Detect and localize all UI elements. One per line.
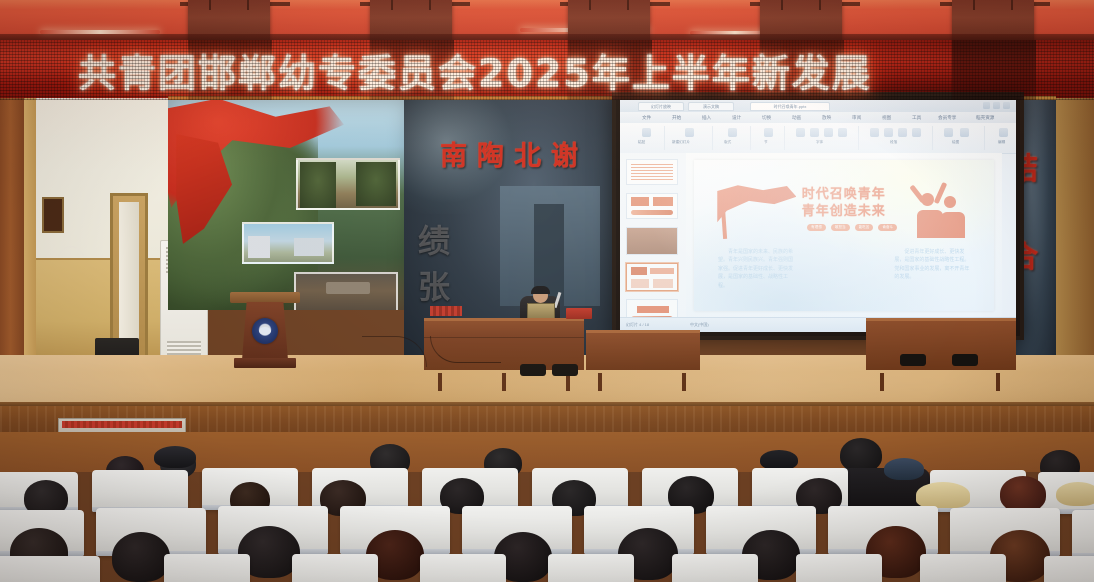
arrange-icon[interactable] [960,128,969,137]
ppt-menu-8[interactable]: 视图 [882,114,891,121]
ppt-ribbon-group-2: 版式 [716,126,751,150]
silhouette-body-2 [941,212,965,237]
ppt-ribbon-label-2: 版式 [724,140,731,145]
ppt-slide-counter: 幻灯片 4 / 18 [626,322,649,328]
ppt-tab-1[interactable]: 演示文稿 [688,102,734,111]
red-folder-stack [430,306,462,316]
slide-column-left: 青年是国家的未来、民族的希望。青年兴则民族兴。青年强则国家强。促进青年更好成长、… [718,248,794,302]
presidium-table-leg-2 [502,373,506,391]
shapes-icon[interactable] [944,128,953,137]
slide-pill-1: 敢担当 [831,224,850,231]
slide-pill-0: 有理想 [807,224,826,231]
backdrop-calligraphy-title: 南陶北谢 [440,134,588,173]
audience-head-cap [1056,482,1094,506]
slide-title-line2: 青年创造未来 [802,204,886,219]
far-chair-1 [900,354,926,366]
ppt-menu-3[interactable]: 设计 [732,114,741,121]
align-left-icon[interactable] [898,128,907,137]
align-center-icon[interactable] [912,128,921,137]
slide-pill-3: 肯奋斗 [878,224,897,231]
side-table [586,330,700,370]
far-table [866,318,1016,370]
slide-body-columns: 青年是国家的未来、民族的希望。青年兴则民族兴。青年强则国家强。促进青年更好成长、… [718,248,970,302]
speaker-podium [238,292,292,370]
side-door[interactable] [110,193,148,358]
audience-seat[interactable] [292,554,378,582]
backdrop-campus-panel [168,100,408,310]
audience-seat[interactable] [548,554,634,582]
slide-thumbnail-4[interactable] [626,263,678,291]
audience-head-cap [154,446,196,468]
slide-thumbnail-5[interactable] [626,299,678,318]
ppt-ribbon-group-0: 粘贴 [630,126,665,150]
ppt-ribbon-group-3: 节 [754,126,785,150]
silhouette-head-1 [921,193,934,206]
ppt-ribbon-label-4: 字体 [816,140,823,145]
ppt-ribbon-label-3: 节 [764,140,768,145]
ppt-menu-7[interactable]: 审阅 [852,114,861,121]
ppt-ribbon-label-1: 新建幻灯片 [672,140,690,145]
ppt-menu-0[interactable]: 文件 [642,114,651,121]
section-icon[interactable] [764,128,773,137]
wall-cable [48,246,94,358]
auditorium-photo: 共青团邯郸幼专委员会2025年上半年新发展 南陶北谢 绩张 [0,0,1094,582]
ppt-menu-10[interactable]: 会员专享 [938,114,956,121]
current-slide: 时代召唤青年 青年创造未来 有理想 敢担当 能吃苦 肯奋斗 [694,160,994,311]
audience-seat[interactable] [0,556,100,582]
audience-seat[interactable] [920,554,1006,582]
ppt-minimize-icon[interactable] [983,102,990,109]
presenter-cap [531,286,550,294]
presenter-chair-2 [552,364,578,376]
audience-area: FIGHTER [0,432,1094,582]
silhouette-body-1 [917,210,943,237]
slide-thumbnail-1[interactable] [626,159,678,185]
presidium-table-leg-1 [438,373,442,391]
bullet-list-icon[interactable] [870,128,879,137]
new-slide-icon[interactable] [685,128,694,137]
projection-screen-frame: 幻灯片放映 演示文稿 时代召唤青年.pptx 文件 开始 插入 设计 切换 动画… [612,92,1024,340]
side-table-leg-2 [682,373,686,391]
side-table-leg-1 [598,373,602,391]
backdrop-photo-3 [294,272,398,310]
left-wood-column [0,98,26,398]
wall-service-hatch [42,197,64,233]
audience-head [1000,476,1046,512]
presenter-chair [520,364,546,376]
left-wood-column-trim [24,98,36,398]
paste-icon[interactable] [642,128,651,137]
presenter-laptop [527,303,555,319]
ppt-menu-2[interactable]: 插入 [702,114,711,121]
far-table-leg-2 [996,373,1000,391]
ppt-ribbon-group-1: 新建幻灯片 [668,126,713,150]
audience-head-straw-hat [916,482,970,508]
audience-seat[interactable] [92,470,188,512]
ppt-thumbnail-panel[interactable]: 1 2 3 4 [620,153,687,318]
font-size-icon[interactable] [810,128,819,137]
red-document-box [566,308,592,319]
slide-title: 时代召唤青年 青年创造未来 [802,186,886,220]
ppt-ribbon-label-0: 粘贴 [638,140,645,145]
ppt-menu-6[interactable]: 放映 [822,114,831,121]
ppt-ribbon-label-7: 编辑 [998,140,1005,145]
podium-top [230,292,300,303]
ppt-slide-canvas[interactable]: 时代召唤青年 青年创造未来 有理想 敢担当 能吃苦 肯奋斗 [686,153,1002,318]
projection-screen: 幻灯片放映 演示文稿 时代召唤青年.pptx 文件 开始 插入 设计 切换 动画… [620,100,1016,332]
ppt-menu-1[interactable]: 开始 [672,114,681,121]
audience-head [840,438,882,472]
slide-thumbnail-2[interactable] [626,193,678,219]
italic-icon[interactable] [838,128,847,137]
audience-head [112,532,170,582]
side-door-panel [119,202,139,355]
ppt-close-icon[interactable] [1003,102,1010,109]
layout-icon[interactable] [728,128,737,137]
ceiling-edge [0,0,1094,10]
slide-red-flag [717,184,796,225]
podium-school-crest [252,318,278,344]
ppt-ribbon-label-6: 绘图 [952,140,959,145]
slide-title-line1: 时代召唤青年 [802,187,886,202]
audience-seat[interactable] [1072,510,1094,558]
ppt-language-indicator[interactable]: 中文(中国) [690,322,709,328]
ppt-maximize-icon[interactable] [993,102,1000,109]
podium-base [234,358,296,368]
ppt-tab-2[interactable]: 时代召唤青年.pptx [750,102,830,111]
slide-pill-2: 能吃苦 [855,224,874,231]
ppt-tab-0[interactable]: 幻灯片放映 [638,102,684,111]
slide-column-right: 促进青年更好成长、更快发展，是国家的基础性战略性工程。党和国家事业的发展，离不开… [894,248,970,302]
ppt-ribbon-group-4: 字体 [788,126,859,150]
slide-hero-banner: 时代召唤青年 青年创造未来 有理想 敢担当 能吃苦 肯奋斗 [712,175,976,241]
ppt-ribbon-group-6: 绘图 [936,126,985,150]
silhouette-head-2 [944,196,956,208]
led-banner-text: 共青团邯郸幼专委员会2025年上半年新发展 [78,43,872,98]
led-banner-shadow-5 [952,40,1036,100]
far-chair-2 [952,354,978,366]
number-list-icon[interactable] [884,128,893,137]
backdrop-calligraphy-body: 绩张 [418,218,450,310]
ppt-menu-11[interactable]: 稻壳资源 [976,114,994,121]
font-icon[interactable] [796,128,805,137]
audience-seat[interactable] [1044,556,1094,582]
slide-youth-silhouettes [913,180,971,237]
audience-seat[interactable] [420,554,506,582]
ppt-menu-4[interactable]: 切换 [762,114,771,121]
audience-seat[interactable] [164,554,250,582]
ppt-ribbon-group-7: 编辑 [988,126,1016,150]
ppt-ribbon-group-5: 段落 [862,126,933,150]
audience-head-cap-blue [884,458,924,480]
audience-head-cap [760,450,798,470]
ppt-menu-9[interactable]: 工具 [912,114,921,121]
backdrop-photo-1 [296,158,400,210]
slide-thumbnail-3[interactable] [626,227,678,255]
backdrop-photo-2 [242,222,334,264]
ppt-ribbon: 粘贴 新建幻灯片 版式 节 [620,123,1016,154]
ppt-ribbon-label-5: 段落 [890,140,897,145]
bold-icon[interactable] [824,128,833,137]
far-table-leg-1 [880,373,884,391]
stage-step-stool-tread [62,421,182,428]
find-icon[interactable] [999,128,1008,137]
ppt-menu-5[interactable]: 动画 [792,114,801,121]
audience-seat[interactable] [672,554,758,582]
slide-keyword-pills: 有理想 敢担当 能吃苦 肯奋斗 [807,224,897,231]
audience-seat[interactable] [796,554,882,582]
